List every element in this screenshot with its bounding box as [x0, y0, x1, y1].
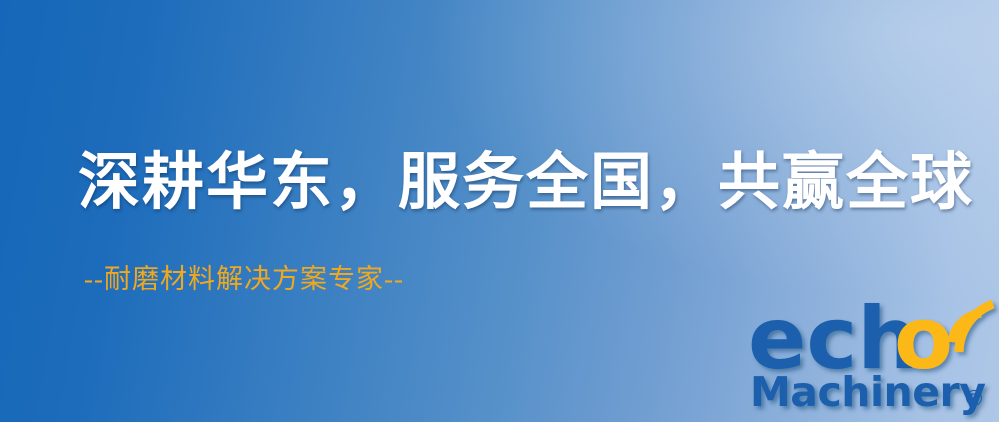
hero-banner: 深耕华东，服务全国，共赢全球 --耐磨材料解决方案专家-- ech o Mach…: [0, 0, 999, 422]
banner-headline: 深耕华东，服务全国，共赢全球: [78, 152, 974, 214]
signal-arc-outer-icon: [959, 304, 993, 352]
banner-subtitle: --耐磨材料解决方案专家--: [84, 266, 404, 293]
registered-trademark-icon: ®: [963, 387, 985, 412]
logo-wordmark-secondary: Machinery: [750, 368, 985, 416]
company-logo[interactable]: ech o Machinery ®: [748, 296, 996, 418]
